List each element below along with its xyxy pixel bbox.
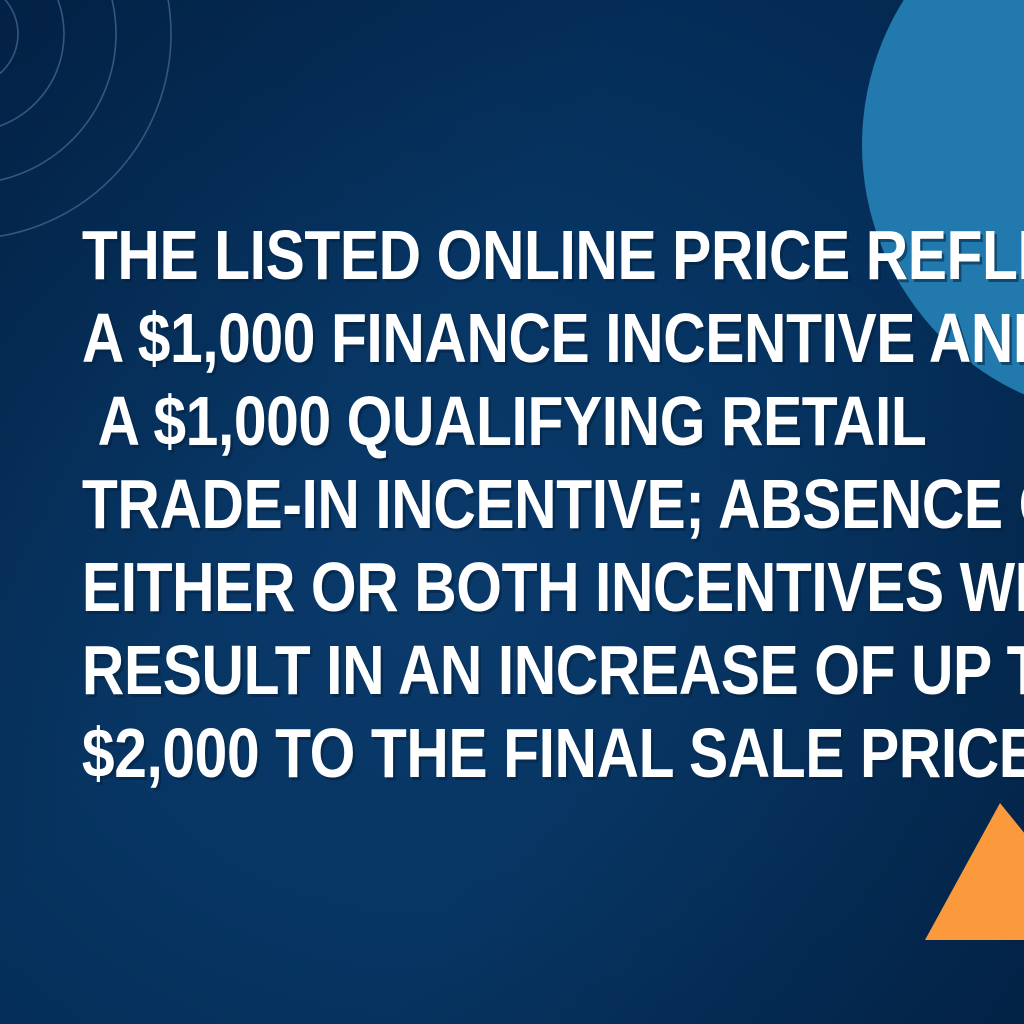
headline-line-5: EITHER OR BOTH INCENTIVES WILL: [82, 546, 942, 629]
promo-banner: THE LISTED ONLINE PRICE REFLECTS A $1,00…: [0, 0, 1024, 1024]
headline-line-2: A $1,000 FINANCE INCENTIVE AND: [82, 297, 942, 380]
headline-line-7: $2,000 TO THE FINAL SALE PRICE.: [82, 712, 942, 795]
headline-line-4: TRADE-IN INCENTIVE; ABSENCE OF: [82, 463, 942, 546]
headline-line-1: THE LISTED ONLINE PRICE REFLECTS: [82, 214, 942, 297]
page-title: THE LISTED ONLINE PRICE REFLECTS A $1,00…: [82, 214, 942, 795]
headline-line-6: RESULT IN AN INCREASE OF UP TO: [82, 629, 942, 712]
headline-line-3: A $1,000 QUALIFYING RETAIL: [82, 380, 942, 463]
